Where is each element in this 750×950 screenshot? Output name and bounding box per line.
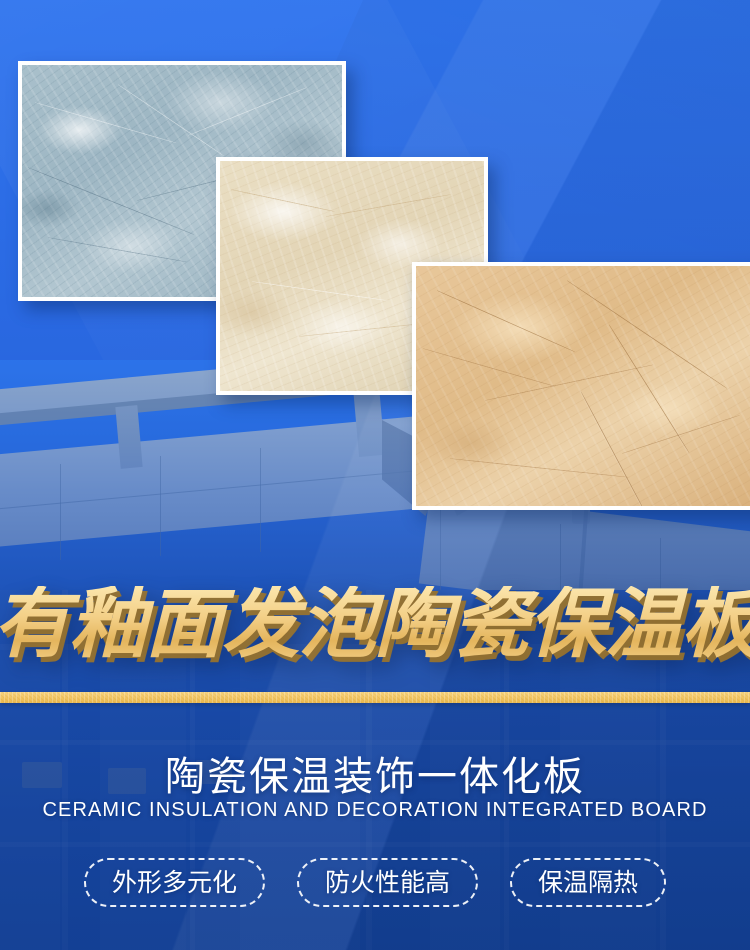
feature-badge-thermal-insulation[interactable]: 保温隔热: [510, 858, 666, 907]
page-title: 有釉面发泡陶瓷保温板: [0, 586, 750, 662]
gold-divider-bar: [0, 692, 750, 703]
product-banner: 有釉面发泡陶瓷保温板 陶瓷保温装饰一体化板 CERAMIC INSULATION…: [0, 0, 750, 950]
subtitle-chinese: 陶瓷保温装饰一体化板: [0, 744, 750, 802]
feature-badge-shape-variety[interactable]: 外形多元化: [84, 858, 265, 907]
feature-badge-row: 外形多元化 防火性能高 保温隔热: [0, 858, 750, 907]
subtitle-english: CERAMIC INSULATION AND DECORATION INTEGR…: [0, 799, 750, 822]
feature-badge-fire-resistance[interactable]: 防火性能高: [297, 858, 478, 907]
sample-tile-golden-tan-marble[interactable]: [412, 262, 750, 510]
